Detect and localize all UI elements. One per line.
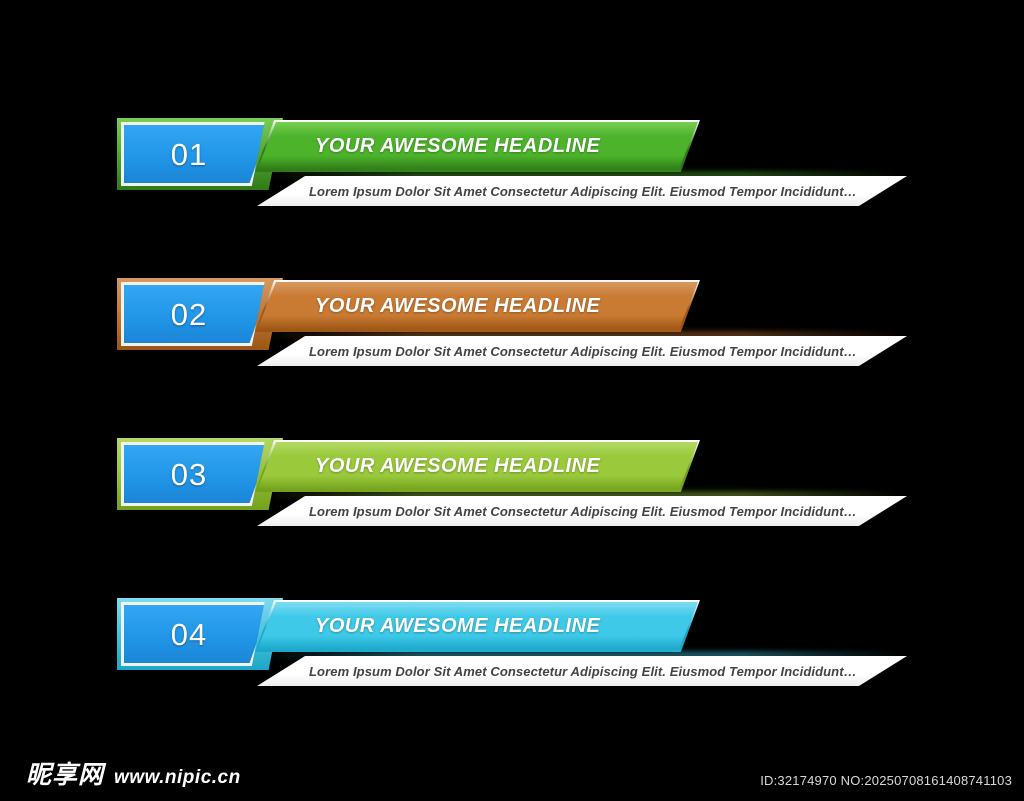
number-plate[interactable]: 03 [117,438,277,510]
subtitle-bar[interactable]: Lorem Ipsum Dolor Sit Amet Consectetur A… [257,496,907,526]
number-plate[interactable]: 01 [117,118,277,190]
banner-headline: YOUR AWESOME HEADLINE [257,455,600,478]
watermark-chinese-logo: 昵享网 [26,755,104,791]
footer-watermark-bar: 昵享网 www.nipic.cn ID:32174970 NO:20250708… [0,755,1024,801]
subtitle-bar[interactable]: Lorem Ipsum Dolor Sit Amet Consectetur A… [257,176,907,206]
banner-headline: YOUR AWESOME HEADLINE [257,295,600,318]
headline-bar-fill: YOUR AWESOME HEADLINE [257,442,698,490]
number-plate[interactable]: 02 [117,278,277,350]
banner-subtitle: Lorem Ipsum Dolor Sit Amet Consectetur A… [257,504,857,519]
number-plate-fill: 02 [124,285,270,343]
watermark-url: www.nipic.cn [114,767,241,789]
asset-id-label: ID:32174970 NO:20250708161408741103 [760,773,1012,788]
headline-bar[interactable]: YOUR AWESOME HEADLINE [255,280,700,332]
headline-bar[interactable]: YOUR AWESOME HEADLINE [255,120,700,172]
lower-third-banner: 02YOUR AWESOME HEADLINELorem Ipsum Dolor… [0,278,1024,378]
banner-subtitle: Lorem Ipsum Dolor Sit Amet Consectetur A… [257,184,857,199]
banner-number: 04 [171,619,223,650]
headline-bar-fill: YOUR AWESOME HEADLINE [257,122,698,170]
number-plate-fill: 01 [124,125,270,183]
banner-subtitle: Lorem Ipsum Dolor Sit Amet Consectetur A… [257,664,857,679]
lower-third-banner: 03YOUR AWESOME HEADLINELorem Ipsum Dolor… [0,438,1024,538]
banner-number: 02 [171,299,223,330]
lower-third-banner: 01YOUR AWESOME HEADLINELorem Ipsum Dolor… [0,118,1024,218]
headline-bar-fill: YOUR AWESOME HEADLINE [257,602,698,650]
lower-third-banner: 04YOUR AWESOME HEADLINELorem Ipsum Dolor… [0,598,1024,698]
banner-headline: YOUR AWESOME HEADLINE [257,615,600,638]
number-plate[interactable]: 04 [117,598,277,670]
banner-headline: YOUR AWESOME HEADLINE [257,135,600,158]
site-watermark: 昵享网 www.nipic.cn [26,755,241,791]
number-plate-fill: 04 [124,605,270,663]
headline-bar[interactable]: YOUR AWESOME HEADLINE [255,440,700,492]
headline-bar-fill: YOUR AWESOME HEADLINE [257,282,698,330]
number-plate-fill: 03 [124,445,270,503]
canvas: 01YOUR AWESOME HEADLINELorem Ipsum Dolor… [0,0,1024,801]
subtitle-bar[interactable]: Lorem Ipsum Dolor Sit Amet Consectetur A… [257,336,907,366]
banner-subtitle: Lorem Ipsum Dolor Sit Amet Consectetur A… [257,344,857,359]
banner-number: 03 [171,459,223,490]
headline-bar[interactable]: YOUR AWESOME HEADLINE [255,600,700,652]
subtitle-bar[interactable]: Lorem Ipsum Dolor Sit Amet Consectetur A… [257,656,907,686]
banner-number: 01 [171,139,223,170]
